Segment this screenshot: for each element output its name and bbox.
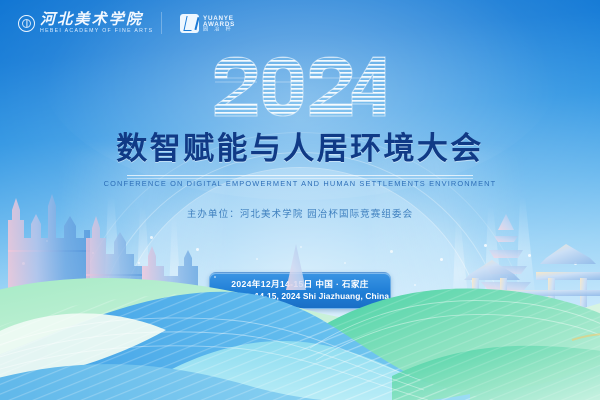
rule-top [127, 175, 473, 176]
year-graphic [0, 56, 600, 118]
header-logos: 河北美术学院 HEBEI ACADEMY OF FINE ARTS YUANYE… [18, 12, 225, 34]
award-logo[interactable]: YUANYE AWARDS 园 冶 杯 [180, 14, 224, 33]
conference-poster: 河北美术学院 HEBEI ACADEMY OF FINE ARTS YUANYE… [0, 0, 600, 400]
scenery [0, 180, 600, 400]
academy-name-en: HEBEI ACADEMY OF FINE ARTS [40, 27, 190, 34]
circular-seal-icon [18, 15, 35, 32]
page-title: 数智赋能与人居环境大会 [0, 130, 600, 168]
academy-logo[interactable]: 河北美术学院 HEBEI ACADEMY OF FINE ARTS [18, 13, 143, 34]
award-name-line3: 园 冶 杯 [203, 26, 235, 32]
yuanye-award-mark-icon [180, 14, 199, 33]
academy-name-cn: 河北美术学院 [40, 13, 143, 28]
center-spire [286, 244, 306, 290]
